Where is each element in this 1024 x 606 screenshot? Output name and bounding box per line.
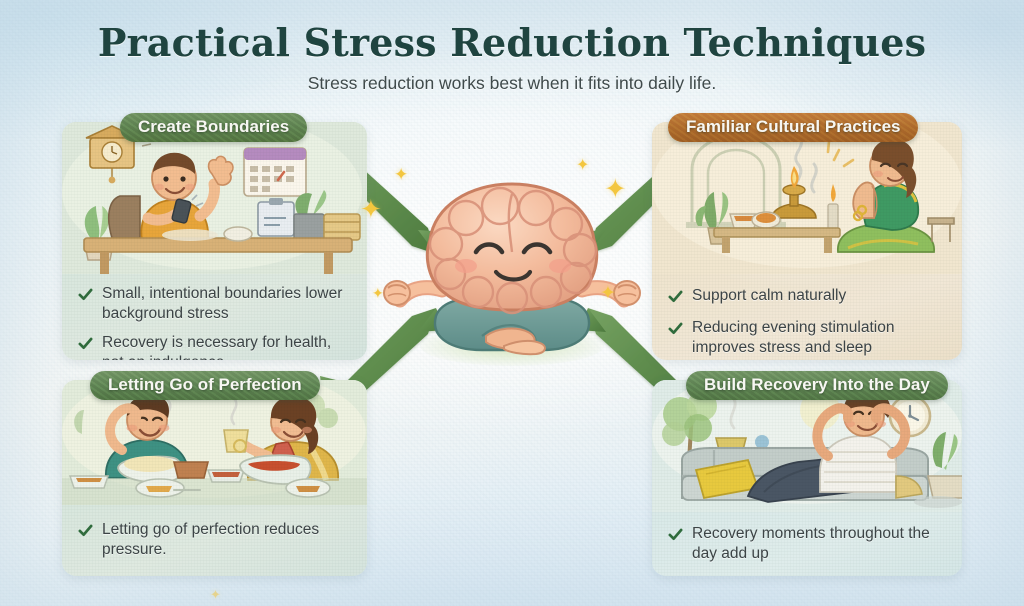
bullet-text: Letting go of perfection reduces pressur… <box>102 520 355 560</box>
sparkle-icon: ✦ <box>372 286 384 300</box>
card-heading-build-recovery-into-the-day: Build Recovery Into the Day <box>686 371 948 400</box>
card-familiar-cultural-practices[interactable]: Support calm naturally Reducing evening … <box>652 122 962 360</box>
potted-plant-right <box>294 190 326 240</box>
header: Practical Stress Reduction Techniques St… <box>0 22 1024 94</box>
mudra-hand-right <box>614 281 640 305</box>
bullet-list: Support calm naturally Reducing evening … <box>668 286 950 358</box>
illustration-man-at-desk-waving-with-phone <box>62 122 367 274</box>
bullet-list: Letting go of perfection reduces pressur… <box>78 520 355 560</box>
sparkle-icon: ✦ <box>394 166 408 183</box>
prayer-scene-svg <box>652 122 962 274</box>
card-heading-familiar-cultural-practices: Familiar Cultural Practices <box>668 113 918 142</box>
bullet-item: Reducing evening stimulation improves st… <box>668 318 950 358</box>
bullet-text: Reducing evening stimulation improves st… <box>692 318 950 358</box>
sparkle-icon: ✦ <box>576 158 589 174</box>
check-icon <box>668 321 683 336</box>
check-icon <box>78 287 93 302</box>
woven-basket <box>324 214 360 240</box>
bullet-item: Letting go of perfection reduces pressur… <box>78 520 355 560</box>
desk-scene-svg <box>62 122 367 274</box>
card-heading-create-boundaries: Create Boundaries <box>120 113 307 142</box>
meditating-brain-illustration: ✦ ✦ ✦ ✦ ✦ ✦ <box>378 160 646 390</box>
bullet-item: Support calm naturally <box>668 286 950 306</box>
bullet-text: Support calm naturally <box>692 286 846 306</box>
clipboard <box>258 198 294 236</box>
pill-label: Letting Go of Perfection <box>108 375 302 394</box>
card-build-recovery-into-the-day[interactable]: Recovery moments throughout the day add … <box>652 380 962 576</box>
pill-label: Create Boundaries <box>138 117 289 136</box>
sparkle-icon: ✦ <box>600 284 616 303</box>
bullet-list: Small, intentional boundaries lower back… <box>78 284 355 360</box>
card-heading-letting-go-of-perfection: Letting Go of Perfection <box>90 371 320 400</box>
chair <box>109 196 140 238</box>
page-title: Practical Stress Reduction Techniques <box>0 22 1024 63</box>
brain-body <box>427 184 596 313</box>
offering-bowls <box>730 212 780 228</box>
bullet-list: Recovery moments throughout the day add … <box>668 524 950 564</box>
pill-label: Build Recovery Into the Day <box>704 375 930 394</box>
bullet-item: Recovery is necessary for health, not an… <box>78 333 355 360</box>
infographic-canvas: Practical Stress Reduction Techniques St… <box>0 0 1024 606</box>
bullet-text: Recovery is necessary for health, not an… <box>102 333 355 360</box>
sparkle-icon: ✦ <box>360 196 382 222</box>
bullet-text: Recovery moments throughout the day add … <box>692 524 950 564</box>
pill-label: Familiar Cultural Practices <box>686 117 900 136</box>
bullet-item: Small, intentional boundaries lower back… <box>78 284 355 324</box>
card-create-boundaries[interactable]: Small, intentional boundaries lower back… <box>62 122 367 360</box>
check-icon <box>668 289 683 304</box>
floor-shadow <box>914 496 962 508</box>
decorative-ball <box>755 435 769 449</box>
wall-calendar <box>244 148 306 196</box>
bullet-text: Small, intentional boundaries lower back… <box>102 284 355 324</box>
illustration-woman-praying-with-oil-lamp <box>652 122 962 274</box>
page-subtitle: Stress reduction works best when it fits… <box>0 73 1024 94</box>
bullet-item: Recovery moments throughout the day add … <box>668 524 950 564</box>
card-letting-go-of-perfection[interactable]: Letting go of perfection reduces pressur… <box>62 380 367 576</box>
check-icon <box>668 527 683 542</box>
mudra-hand-left <box>384 281 410 305</box>
check-icon <box>78 523 93 538</box>
sparkle-icon: ✦ <box>210 588 221 601</box>
sparkle-icon: ✦ <box>604 176 627 203</box>
check-icon <box>78 336 93 351</box>
